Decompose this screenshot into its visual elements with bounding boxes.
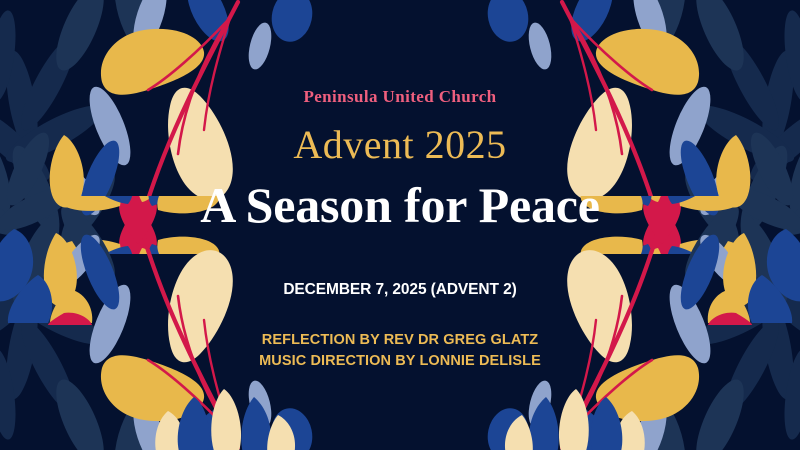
page-title: A Season for Peace xyxy=(200,179,600,231)
church-name: Peninsula United Church xyxy=(303,88,496,105)
credits-block: REFLECTION BY REV DR GREG GLATZ MUSIC DI… xyxy=(259,330,541,374)
credit-line-reflection: REFLECTION BY REV DR GREG GLATZ xyxy=(259,330,541,352)
credit-line-music: MUSIC DIRECTION BY LONNIE DELISLE xyxy=(259,351,541,373)
slide-text-content: Peninsula United Church Advent 2025 A Se… xyxy=(0,0,800,450)
service-date: DECEMBER 7, 2025 (ADVENT 2) xyxy=(283,281,516,299)
season-title: Advent 2025 xyxy=(293,125,506,165)
advent-slide: Peninsula United Church Advent 2025 A Se… xyxy=(0,0,800,450)
